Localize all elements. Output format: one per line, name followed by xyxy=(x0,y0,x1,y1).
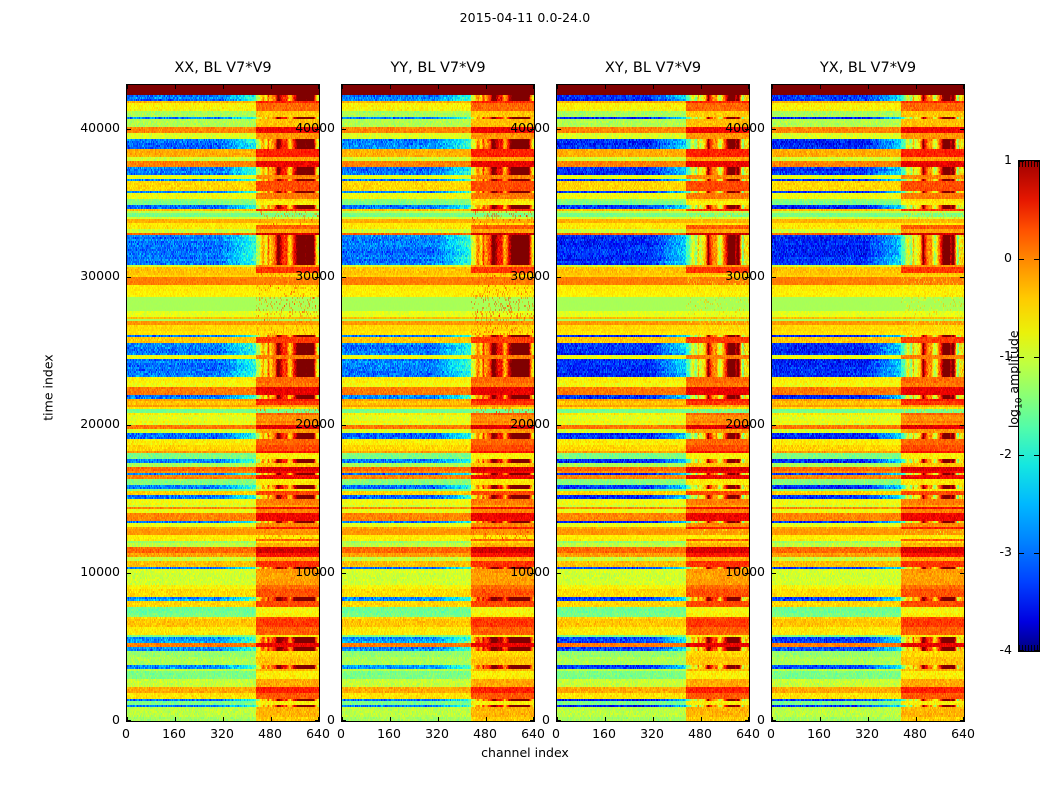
waterfall-panel-yy[interactable] xyxy=(341,84,535,722)
x-tick-mark xyxy=(486,85,487,89)
y-tick-mark xyxy=(772,129,776,130)
waterfall-image xyxy=(342,85,534,721)
panel-title-yy: YY, BL V7*V9 xyxy=(341,60,535,76)
colorbar-tick-mark xyxy=(1019,553,1024,554)
x-tick-mark xyxy=(820,85,821,89)
x-tick-mark xyxy=(916,85,917,89)
x-tick-mark xyxy=(916,717,917,721)
y-tick-mark xyxy=(557,720,561,721)
x-tick-mark xyxy=(438,85,439,89)
x-tick-mark xyxy=(605,85,606,89)
y-tick-label: 20000 xyxy=(695,416,765,431)
y-tick-label: 30000 xyxy=(50,268,120,283)
panel-title-xy: XY, BL V7*V9 xyxy=(556,60,750,76)
colorbar-tick-label: -2 xyxy=(972,446,1012,461)
waterfall-panel-yx[interactable] xyxy=(771,84,965,722)
y-tick-label: 0 xyxy=(480,712,550,727)
x-tick-mark xyxy=(653,717,654,721)
colorbar-tick-label: -4 xyxy=(972,642,1012,657)
y-tick-label: 10000 xyxy=(50,564,120,579)
y-tick-mark xyxy=(772,720,776,721)
y-tick-label: 20000 xyxy=(50,416,120,431)
y-tick-mark xyxy=(960,277,964,278)
colorbar-tick-mark xyxy=(1034,553,1039,554)
x-tick-mark xyxy=(868,717,869,721)
y-tick-label: 10000 xyxy=(480,564,550,579)
x-tick-mark xyxy=(533,85,534,89)
y-tick-mark xyxy=(342,425,346,426)
x-tick-mark xyxy=(318,85,319,89)
colorbar-tick-label: -3 xyxy=(972,544,1012,559)
y-tick-mark xyxy=(557,425,561,426)
y-tick-mark xyxy=(557,129,561,130)
y-tick-mark xyxy=(127,720,131,721)
figure-suptitle: 2015-04-11 0.0-24.0 xyxy=(0,10,1050,25)
y-tick-label: 30000 xyxy=(480,268,550,283)
y-axis-label: time index xyxy=(41,318,56,458)
y-tick-label: 40000 xyxy=(480,120,550,135)
x-tick-mark xyxy=(557,85,558,89)
colorbar-extend-hatch xyxy=(1019,645,1039,651)
y-tick-mark xyxy=(772,277,776,278)
y-tick-mark xyxy=(127,425,131,426)
y-tick-mark xyxy=(127,573,131,574)
x-tick-label: 640 xyxy=(933,726,993,741)
colorbar-tick-label: -1 xyxy=(972,348,1012,363)
x-tick-mark xyxy=(653,85,654,89)
y-tick-label: 0 xyxy=(50,712,120,727)
colorbar-label: log10 amplitude xyxy=(1006,299,1025,459)
y-tick-label: 20000 xyxy=(480,416,550,431)
x-tick-mark xyxy=(605,717,606,721)
colorbar-tick-label: 1 xyxy=(972,152,1012,167)
x-tick-mark xyxy=(438,717,439,721)
y-tick-mark xyxy=(127,277,131,278)
x-tick-mark xyxy=(342,85,343,89)
y-tick-mark xyxy=(960,720,964,721)
y-tick-mark xyxy=(342,720,346,721)
y-tick-label: 10000 xyxy=(265,564,335,579)
y-tick-label: 40000 xyxy=(695,120,765,135)
colorbar-extend-hatch xyxy=(1019,161,1039,167)
waterfall-figure: 2015-04-11 0.0-24.0 XX, BL V7*V9 YY, BL … xyxy=(0,0,1050,800)
panel-title-xx: XX, BL V7*V9 xyxy=(126,60,320,76)
x-tick-mark xyxy=(820,717,821,721)
x-tick-mark xyxy=(175,85,176,89)
panel-title-yx: YX, BL V7*V9 xyxy=(771,60,965,76)
x-tick-mark xyxy=(223,85,224,89)
x-tick-mark xyxy=(390,717,391,721)
y-tick-label: 10000 xyxy=(695,564,765,579)
waterfall-image xyxy=(127,85,319,721)
y-tick-label: 30000 xyxy=(695,268,765,283)
y-tick-mark xyxy=(342,573,346,574)
y-tick-label: 0 xyxy=(695,712,765,727)
x-tick-mark xyxy=(868,85,869,89)
x-tick-mark xyxy=(748,85,749,89)
x-tick-mark xyxy=(127,85,128,89)
x-tick-mark xyxy=(772,85,773,89)
x-tick-mark xyxy=(271,85,272,89)
y-tick-label: 30000 xyxy=(265,268,335,283)
y-tick-mark xyxy=(127,129,131,130)
waterfall-image xyxy=(557,85,749,721)
y-tick-label: 40000 xyxy=(265,120,335,135)
y-tick-mark xyxy=(772,425,776,426)
waterfall-image xyxy=(772,85,964,721)
y-tick-mark xyxy=(557,277,561,278)
y-tick-label: 0 xyxy=(265,712,335,727)
y-tick-mark xyxy=(960,129,964,130)
y-tick-mark xyxy=(342,129,346,130)
colorbar-tick-mark xyxy=(1034,259,1039,260)
colorbar-tick-mark xyxy=(1019,259,1024,260)
y-tick-mark xyxy=(342,277,346,278)
y-tick-mark xyxy=(960,573,964,574)
y-tick-label: 20000 xyxy=(265,416,335,431)
x-axis-label: channel index xyxy=(0,745,1050,760)
colorbar-tick-mark xyxy=(1034,455,1039,456)
x-tick-mark xyxy=(175,717,176,721)
x-tick-mark xyxy=(701,85,702,89)
waterfall-panel-xy[interactable] xyxy=(556,84,750,722)
x-tick-mark xyxy=(390,85,391,89)
y-tick-label: 40000 xyxy=(50,120,120,135)
colorbar-tick-mark xyxy=(1034,357,1039,358)
y-tick-mark xyxy=(960,425,964,426)
y-tick-mark xyxy=(772,573,776,574)
colorbar-tick-label: 0 xyxy=(972,250,1012,265)
waterfall-panel-xx[interactable] xyxy=(126,84,320,722)
y-tick-mark xyxy=(557,573,561,574)
x-tick-mark xyxy=(963,85,964,89)
x-tick-mark xyxy=(223,717,224,721)
